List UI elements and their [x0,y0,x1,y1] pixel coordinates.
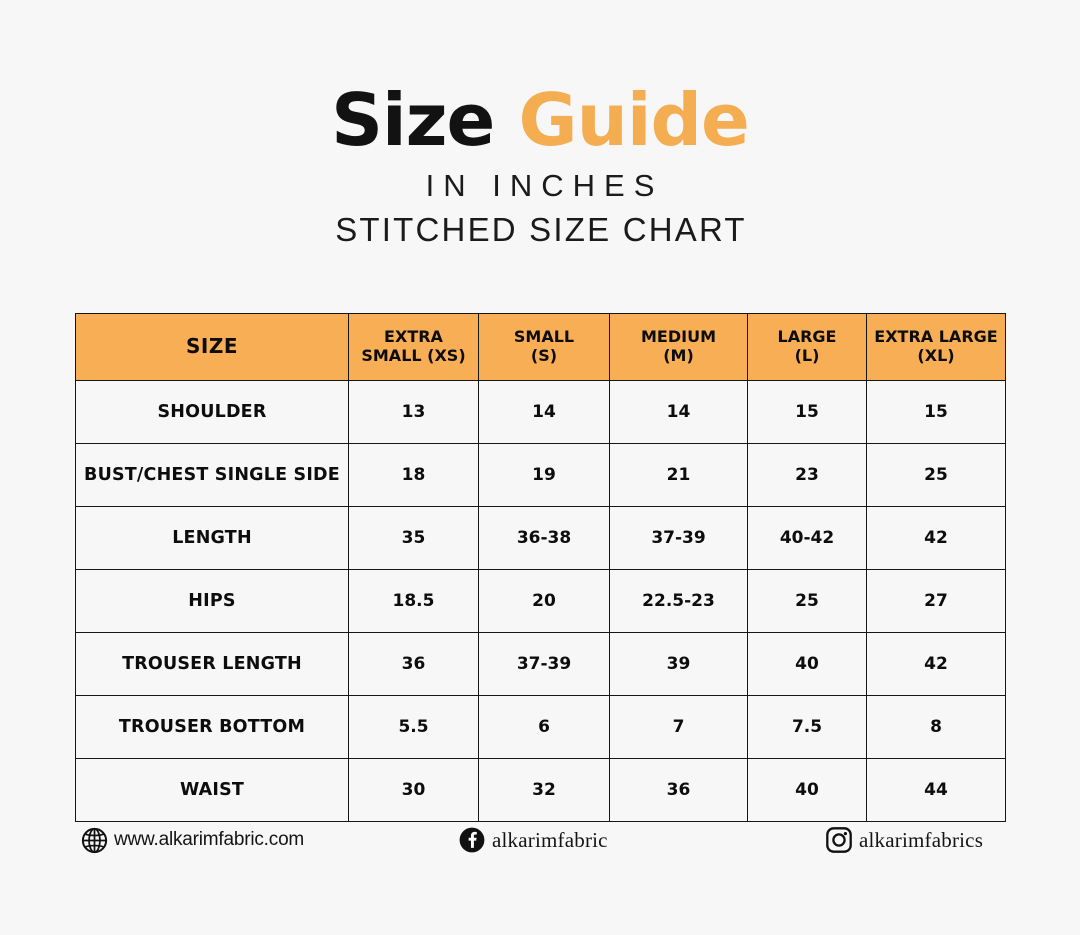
header-line-1: LARGE [752,328,862,347]
cell-m: 36 [610,759,748,822]
row-label: TROUSER LENGTH [76,633,349,696]
table-row: SHOULDER 13 14 14 15 15 [76,381,1006,444]
table-row: WAIST 30 32 36 40 44 [76,759,1006,822]
cell-m: 39 [610,633,748,696]
cell-m: 7 [610,696,748,759]
header-line-1: MEDIUM [614,328,743,347]
table-body: SHOULDER 13 14 14 15 15 BUST/CHEST SINGL… [76,381,1006,822]
cell-xl: 27 [867,570,1006,633]
cell-xs: 18.5 [349,570,479,633]
row-label: BUST/CHEST SINGLE SIDE [76,444,349,507]
footer: www.alkarimfabric.com alkarimfabric alka… [75,818,1005,868]
cell-l: 40 [748,759,867,822]
header-line-1: EXTRA LARGE [871,328,1001,347]
cell-xs: 35 [349,507,479,570]
cell-l: 23 [748,444,867,507]
website-label: www.alkarimfabric.com [114,829,304,851]
cell-xl: 15 [867,381,1006,444]
cell-xl: 42 [867,633,1006,696]
footer-facebook[interactable]: alkarimfabric [458,826,608,854]
footer-website[interactable]: www.alkarimfabric.com [80,826,304,854]
header-cell-s: SMALL (S) [479,314,610,381]
row-label: SHOULDER [76,381,349,444]
cell-l: 25 [748,570,867,633]
instagram-label: alkarimfabrics [859,828,983,853]
subtitle-units: IN INCHES [0,170,1080,201]
header-cell-m: MEDIUM (M) [610,314,748,381]
table-header-row: SIZE EXTRA SMALL (XS) SMALL (S) MEDIUM (… [76,314,1006,381]
header-line-1: SMALL [483,328,605,347]
table-row: HIPS 18.5 20 22.5-23 25 27 [76,570,1006,633]
cell-s: 37-39 [479,633,610,696]
table-row: BUST/CHEST SINGLE SIDE 18 19 21 23 25 [76,444,1006,507]
row-label: WAIST [76,759,349,822]
page-title-accent: Guide [518,78,748,162]
cell-xs: 30 [349,759,479,822]
footer-instagram[interactable]: alkarimfabrics [825,826,983,854]
cell-xl: 44 [867,759,1006,822]
header-line-2: (M) [614,347,743,366]
cell-s: 14 [479,381,610,444]
cell-xs: 18 [349,444,479,507]
instagram-icon [825,826,853,854]
facebook-icon [458,826,486,854]
header-line-2: SMALL (XS) [353,347,474,366]
size-table-container: SIZE EXTRA SMALL (XS) SMALL (S) MEDIUM (… [75,313,1005,822]
cell-xs: 5.5 [349,696,479,759]
cell-m: 22.5-23 [610,570,748,633]
cell-l: 40-42 [748,507,867,570]
cell-s: 6 [479,696,610,759]
page-title-dark: Size [331,78,494,162]
header-cell-size: SIZE [76,314,349,381]
cell-s: 32 [479,759,610,822]
table-row: LENGTH 35 36-38 37-39 40-42 42 [76,507,1006,570]
subtitle-chart-type: STITCHED SIZE CHART [0,213,1080,246]
size-guide-page: Size Guide IN INCHES STITCHED SIZE CHART… [0,0,1080,935]
title-block: Size Guide IN INCHES STITCHED SIZE CHART [0,84,1080,246]
header-line-2: (L) [752,347,862,366]
table-row: TROUSER BOTTOM 5.5 6 7 7.5 8 [76,696,1006,759]
cell-xs: 13 [349,381,479,444]
page-title: Size Guide [0,84,1080,156]
header-cell-l: LARGE (L) [748,314,867,381]
row-label: HIPS [76,570,349,633]
cell-m: 21 [610,444,748,507]
cell-xs: 36 [349,633,479,696]
cell-l: 7.5 [748,696,867,759]
table-header: SIZE EXTRA SMALL (XS) SMALL (S) MEDIUM (… [76,314,1006,381]
header-line-1: SIZE [80,335,344,359]
header-line-1: EXTRA [353,328,474,347]
cell-xl: 25 [867,444,1006,507]
cell-m: 14 [610,381,748,444]
cell-xl: 8 [867,696,1006,759]
cell-s: 20 [479,570,610,633]
header-line-2: (XL) [871,347,1001,366]
cell-l: 40 [748,633,867,696]
cell-m: 37-39 [610,507,748,570]
cell-xl: 42 [867,507,1006,570]
cell-s: 19 [479,444,610,507]
table-row: TROUSER LENGTH 36 37-39 39 40 42 [76,633,1006,696]
cell-l: 15 [748,381,867,444]
cell-s: 36-38 [479,507,610,570]
row-label: TROUSER BOTTOM [76,696,349,759]
header-cell-xs: EXTRA SMALL (XS) [349,314,479,381]
header-line-2: (S) [483,347,605,366]
size-chart-table: SIZE EXTRA SMALL (XS) SMALL (S) MEDIUM (… [75,313,1006,822]
row-label: LENGTH [76,507,349,570]
facebook-label: alkarimfabric [492,828,608,853]
header-cell-xl: EXTRA LARGE (XL) [867,314,1006,381]
globe-icon [80,826,108,854]
